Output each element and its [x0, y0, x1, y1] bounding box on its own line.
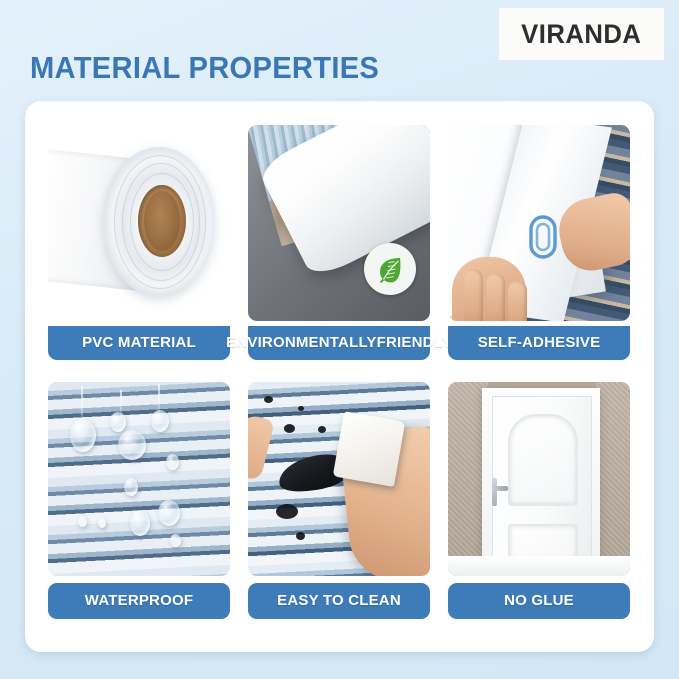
paperclip-badge: [526, 213, 560, 266]
door-panel-upper: [508, 414, 578, 506]
feature-label-self-adhesive: SELF-ADHESIVE: [448, 326, 630, 360]
feature-panel: PVC MATERIAL: [25, 101, 654, 652]
wall-right: [596, 382, 630, 576]
feature-image-environmentally-friendly: [248, 125, 430, 321]
self-adhesive-illustration: [448, 125, 630, 321]
header: MATERIAL PROPERTIES VIRANDA: [0, 0, 679, 100]
feature-label-waterproof: WATERPROOF: [48, 583, 230, 619]
feature-grid: PVC MATERIAL: [48, 125, 634, 627]
stain-speck-5: [276, 504, 298, 519]
leaf-badge: [364, 243, 416, 295]
feature-label-no-glue: NO GLUE: [448, 583, 630, 619]
feature-label-pvc-material: PVC MATERIAL: [48, 326, 230, 360]
infographic-canvas: MATERIAL PROPERTIES VIRANDA: [0, 0, 679, 679]
water-droplet-8: [130, 510, 150, 536]
door-handle-plate: [492, 478, 497, 506]
no-glue-door-illustration: [448, 382, 630, 576]
feature-image-pvc-material: [48, 125, 230, 321]
feature-image-self-adhesive: [448, 125, 630, 321]
feature-image-no-glue: [448, 382, 630, 576]
water-droplet-7: [158, 500, 180, 526]
water-droplet-4: [151, 410, 169, 432]
pvc-roll-illustration: [48, 125, 230, 321]
eco-wallpaper-illustration: [248, 125, 430, 321]
left-finger-1: [464, 269, 483, 321]
droplet-trail-1: [81, 386, 83, 420]
cleaning-cloth: [333, 411, 406, 487]
feature-label-environmentally-friendly: ENVIRONMENTALLY FRIENDLY: [248, 326, 430, 360]
pvc-core-hole: [144, 191, 180, 251]
baseboard-doorway-gap: [482, 556, 600, 576]
left-finger-2: [486, 273, 505, 321]
waterproof-illustration: [48, 382, 230, 576]
left-finger-3: [508, 281, 527, 321]
feature-label-easy-to-clean: EASY TO CLEAN: [248, 583, 430, 619]
feature-label-line-1: ENVIRONMENTALLY: [226, 335, 377, 351]
feature-card-environmentally-friendly[interactable]: ENVIRONMENTALLY FRIENDLY: [248, 125, 430, 360]
leaf-icon: [374, 253, 406, 285]
water-droplet-3: [118, 430, 146, 460]
stain-speck-4: [318, 426, 326, 433]
cleaning-thumb: [248, 413, 275, 481]
feature-card-waterproof[interactable]: WATERPROOF: [48, 382, 230, 619]
water-droplet-6: [124, 478, 138, 496]
water-droplet-9: [78, 516, 87, 527]
stain-speck-3: [284, 424, 295, 433]
easy-to-clean-illustration: [248, 382, 430, 576]
paperclip-icon: [526, 213, 560, 261]
feature-image-waterproof: [48, 382, 230, 576]
feature-card-pvc-material[interactable]: PVC MATERIAL: [48, 125, 230, 360]
feature-label-line-2: FRIENDLY: [377, 335, 452, 351]
feature-card-no-glue[interactable]: NO GLUE: [448, 382, 630, 619]
brand-logo-text: VIRANDA: [521, 19, 641, 50]
stain-speck-6: [296, 532, 305, 540]
water-droplet-2: [110, 412, 126, 432]
stain-speck-2: [298, 406, 304, 411]
stain-speck-1: [264, 396, 273, 403]
water-droplet-11: [170, 534, 181, 547]
water-droplet-10: [98, 518, 106, 528]
door-handle: [492, 486, 508, 491]
feature-card-easy-to-clean[interactable]: EASY TO CLEAN: [248, 382, 430, 619]
water-droplet-5: [166, 454, 179, 470]
feature-card-self-adhesive[interactable]: SELF-ADHESIVE: [448, 125, 630, 360]
feature-image-easy-to-clean: [248, 382, 430, 576]
page-title: MATERIAL PROPERTIES: [30, 50, 379, 86]
brand-logo: VIRANDA: [499, 8, 664, 60]
water-droplet-1: [70, 418, 96, 452]
